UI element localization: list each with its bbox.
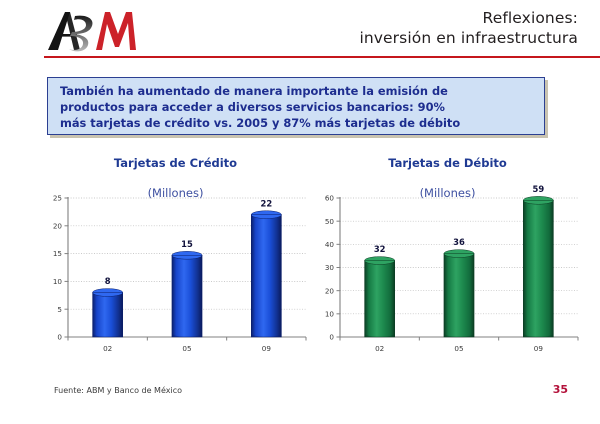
x-axis-category-label: 05 xyxy=(182,344,191,353)
callout-banner: También ha aumentado de manera important… xyxy=(47,77,545,135)
page-title-line-2: inversión en infraestructura xyxy=(359,28,578,48)
y-axis-tick-label: 50 xyxy=(325,217,335,226)
header-divider xyxy=(44,56,600,58)
x-axis-category-label: 09 xyxy=(534,344,544,353)
x-axis-category-label: 09 xyxy=(262,344,272,353)
chart-plot-credito: 051015202580215052209 xyxy=(38,182,313,367)
bar-value-label: 15 xyxy=(181,239,193,249)
y-axis-tick-label: 15 xyxy=(53,249,62,258)
y-axis-tick-label: 20 xyxy=(53,221,63,230)
bar xyxy=(93,289,123,337)
chart-tarjetas-credito: Tarjetas de Crédito (Millones) 051015202… xyxy=(38,156,313,371)
bar-value-label: 22 xyxy=(261,198,273,208)
y-axis-tick-label: 10 xyxy=(325,309,335,318)
source-note: Fuente: ABM y Banco de México xyxy=(54,386,182,395)
bar-value-label: 59 xyxy=(533,184,545,194)
abm-logo-icon xyxy=(44,8,139,54)
x-axis-category-label: 02 xyxy=(103,344,112,353)
slide-header: Reflexiones: inversión en infraestructur… xyxy=(0,0,600,60)
bar xyxy=(251,211,281,337)
callout-text: También ha aumentado de manera important… xyxy=(60,84,534,131)
bar xyxy=(365,257,395,337)
x-axis-category-label: 02 xyxy=(375,344,384,353)
bar xyxy=(523,196,553,337)
x-axis-category-label: 05 xyxy=(454,344,463,353)
y-axis-tick-label: 0 xyxy=(57,333,62,342)
y-axis-tick-label: 25 xyxy=(53,194,62,203)
y-axis-tick-label: 5 xyxy=(57,305,62,314)
page-title-line-1: Reflexiones: xyxy=(359,8,578,28)
page-number: 35 xyxy=(553,383,568,396)
y-axis-tick-label: 60 xyxy=(325,194,335,203)
bar-value-label: 36 xyxy=(453,237,465,247)
y-axis-tick-label: 20 xyxy=(325,286,335,295)
chart-title-debito: Tarjetas de Débito xyxy=(310,156,585,170)
bar xyxy=(172,251,202,337)
bar-value-label: 8 xyxy=(105,276,111,286)
bar xyxy=(444,250,474,337)
y-axis-tick-label: 30 xyxy=(325,263,335,272)
bar-value-label: 32 xyxy=(374,244,386,254)
chart-plot-debito: 0102030405060320236055909 xyxy=(310,182,585,367)
y-axis-tick-label: 40 xyxy=(325,240,335,249)
chart-title-credito: Tarjetas de Crédito xyxy=(38,156,313,170)
chart-tarjetas-debito: Tarjetas de Débito (Millones) 0102030405… xyxy=(310,156,585,371)
page-title: Reflexiones: inversión en infraestructur… xyxy=(359,8,578,48)
y-axis-tick-label: 0 xyxy=(329,333,334,342)
abm-logo xyxy=(44,8,139,54)
y-axis-tick-label: 10 xyxy=(53,277,63,286)
